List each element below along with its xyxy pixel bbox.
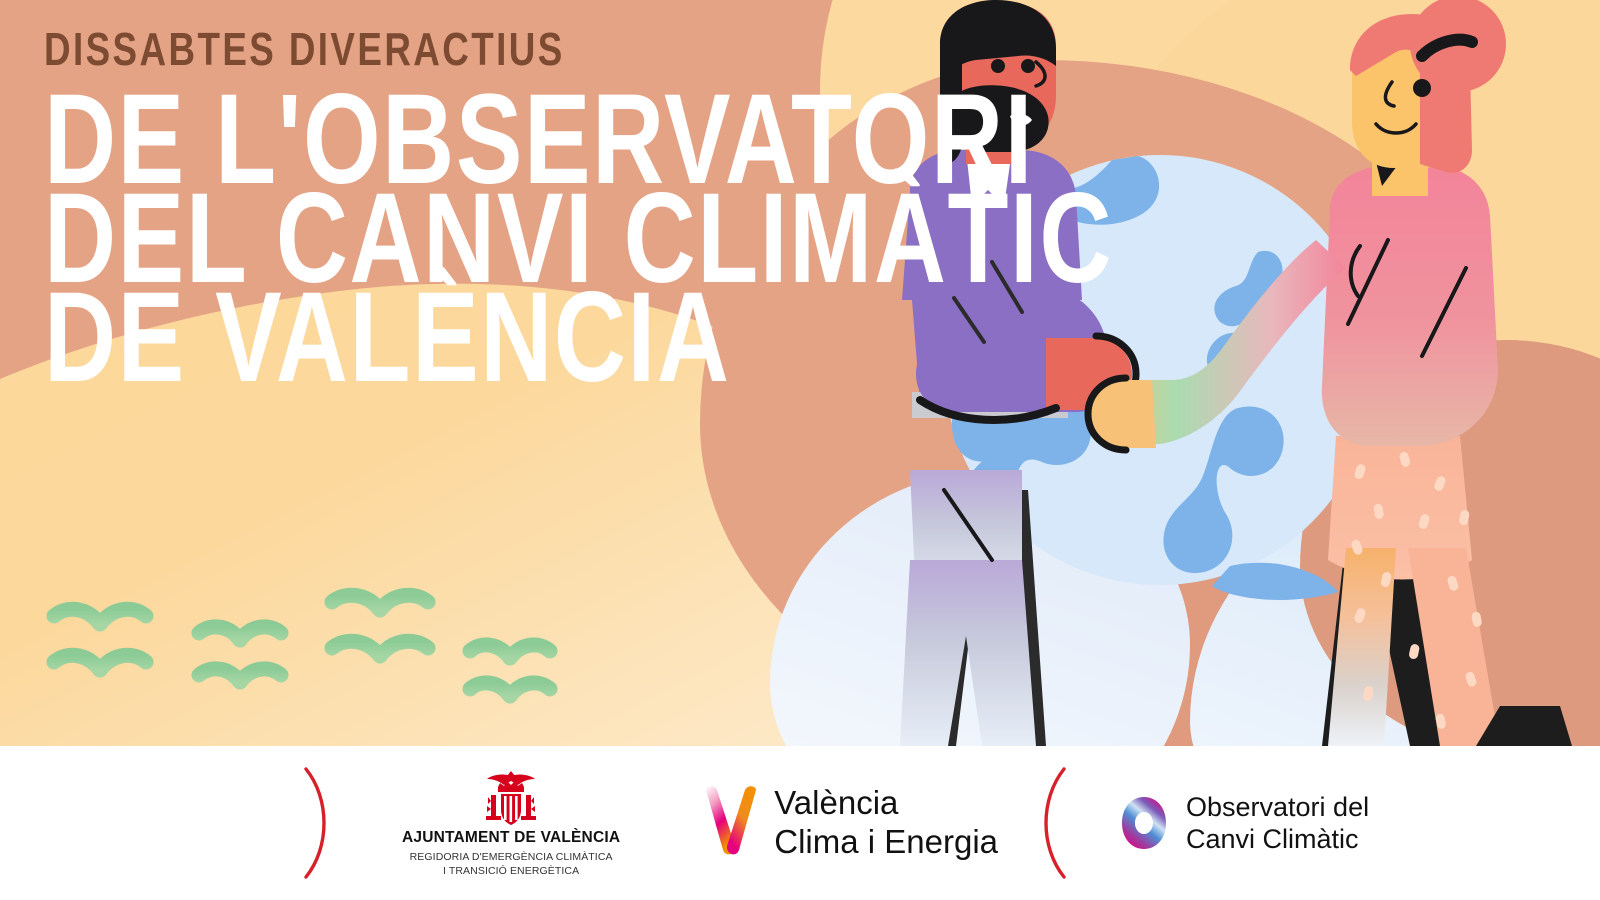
logo-observatori-canvi-climatic[interactable]: Observatori del Canvi Climàtic	[1118, 791, 1369, 856]
vce-text: València Clima i Energia	[774, 784, 998, 862]
paren-right-icon	[292, 763, 342, 883]
ajuntament-name: AJUNTAMENT DE VALÈNCIA	[402, 829, 620, 847]
sprout-plants	[40, 576, 600, 746]
paren-left-icon	[1028, 763, 1078, 883]
occ-text: Observatori del Canvi Climàtic	[1186, 791, 1369, 856]
occ-line-2: Canvi Climàtic	[1186, 823, 1369, 855]
headline-block: DISSABTES DIVERACTIUS DE L'OBSERVATORI D…	[44, 26, 944, 396]
gradient-v-mark-icon	[702, 784, 760, 862]
ajuntament-subtitle-line-2: I TRANSICIÓ ENERGÈTICA	[443, 865, 579, 877]
gradient-o-mark-icon	[1118, 795, 1170, 851]
ajuntament-subtitle-line-1: REGIDORIA D'EMERGÈNCIA CLIMÀTICA	[410, 851, 613, 863]
valencia-coat-of-arms-icon	[478, 768, 544, 826]
title-line-3: DE VALÈNCIA	[44, 280, 746, 395]
poster: DISSABTES DIVERACTIUS DE L'OBSERVATORI D…	[0, 0, 1600, 900]
vce-line-2: Clima i Energia	[774, 823, 998, 862]
footer-logo-bar: AJUNTAMENT DE VALÈNCIA REGIDORIA D'EMERG…	[0, 746, 1600, 900]
logo-valencia-clima-energia[interactable]: València Clima i Energia	[702, 784, 998, 862]
logo-ajuntament-valencia[interactable]: AJUNTAMENT DE VALÈNCIA REGIDORIA D'EMERG…	[402, 768, 620, 877]
artwork-stage: DISSABTES DIVERACTIUS DE L'OBSERVATORI D…	[0, 0, 1600, 746]
ajuntament-subtitle: REGIDORIA D'EMERGÈNCIA CLIMÀTICA I TRANS…	[410, 851, 613, 877]
vce-line-1: València	[774, 784, 998, 823]
kicker-text: DISSABTES DIVERACTIUS	[44, 26, 764, 72]
occ-line-1: Observatori del	[1186, 791, 1369, 823]
